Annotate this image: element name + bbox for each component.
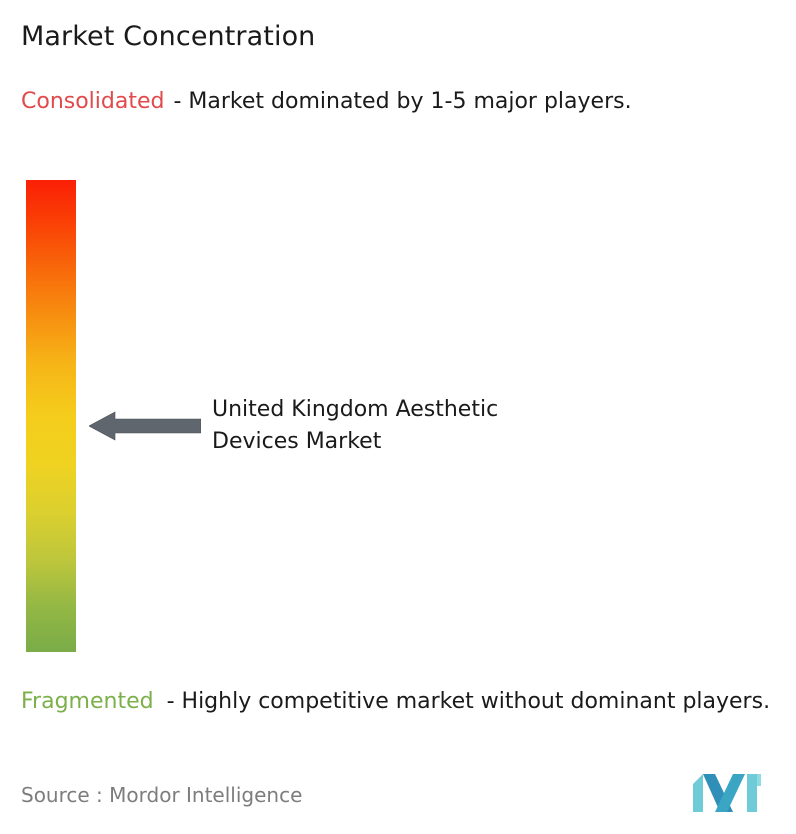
legend-fragmented: Fragmented- Highly competitive market wi… (21, 686, 783, 717)
left-arrow-icon (89, 410, 201, 442)
market-marker-label-line-1: United Kingdom Aesthetic (212, 394, 692, 426)
market-marker-label-line-2: Devices Market (212, 426, 692, 458)
legend-description-consolidated: - Market dominated by 1-5 major players. (173, 89, 631, 114)
legend-term-fragmented: Fragmented (21, 689, 154, 714)
market-marker-label: United Kingdom Aesthetic Devices Market (212, 394, 692, 458)
legend-consolidated: Consolidated- Market dominated by 1-5 ma… (21, 86, 776, 117)
page-title: Market Concentration (21, 20, 315, 54)
source-attribution: Source : Mordor Intelligence (21, 782, 302, 808)
legend-term-consolidated: Consolidated (21, 89, 164, 114)
market-concentration-scale-bar (26, 180, 76, 652)
legend-description-fragmented: - Highly competitive market without domi… (167, 689, 770, 714)
mordor-intelligence-logo-icon (693, 772, 761, 814)
